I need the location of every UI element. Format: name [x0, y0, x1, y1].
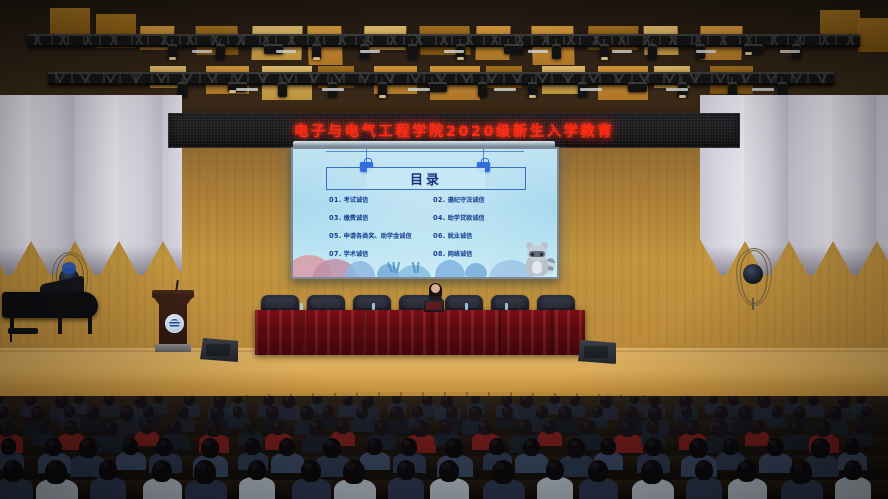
acoustic-panel [832, 95, 878, 275]
audience-member-head [25, 396, 36, 406]
audience-member-head [248, 460, 266, 480]
toc-item-label: 助学贷款诚信 [448, 213, 485, 222]
toc-item-label: 考试诚信 [344, 195, 369, 204]
ceiling-panel [858, 18, 888, 52]
light-hanger-bar [192, 50, 212, 53]
slide-title: 目录 [410, 169, 442, 188]
audience-member-head [492, 460, 514, 484]
audience-member-head [154, 396, 163, 404]
audience-member-head [45, 460, 67, 484]
light-hanger-bar [752, 88, 774, 91]
audience-member-head [343, 396, 354, 406]
water-bottle [505, 303, 508, 310]
audience-member-head [750, 420, 762, 434]
audience-member-head [31, 406, 45, 421]
audience-member-head [469, 406, 483, 421]
audience-member-head [422, 396, 433, 406]
light-hanger-bar [276, 50, 296, 53]
audience-member-head [626, 406, 638, 419]
toc-item: 07.学术诚信 [329, 249, 433, 258]
audience-member-head [794, 406, 806, 419]
audience-member-head [168, 420, 182, 435]
audience-member-head [64, 406, 75, 418]
audience-member-head [695, 460, 713, 480]
audience-member-head [523, 438, 540, 456]
light-hanger-bar [696, 50, 716, 53]
audience-member-head [648, 406, 662, 421]
audience-member-head [854, 420, 866, 434]
audience-member-head [737, 460, 757, 482]
audience-member-head [582, 420, 596, 435]
stage-light-icon [744, 44, 763, 54]
audience-member-head [279, 438, 296, 456]
audience-member-head [367, 438, 382, 455]
audience-member-head [516, 420, 532, 437]
audience-member [271, 453, 304, 473]
audience-member-head [811, 438, 829, 458]
projection-screen: 目录 01.考试诚信02.遵纪守法诚信03.缴费诚信04.助学贷款诚信05.申请… [291, 147, 559, 279]
audience-member-head [123, 438, 138, 455]
toc-item-label: 网络诚信 [448, 249, 473, 258]
audience [0, 396, 888, 499]
audience-member-head [789, 396, 798, 404]
audience-member-head [728, 396, 739, 406]
audience-member [351, 417, 375, 432]
audience-member-head [790, 460, 812, 484]
audience-member-head [592, 406, 603, 418]
audience-member-head [440, 420, 452, 434]
audience-member-head [641, 460, 663, 484]
acoustic-panel [30, 95, 76, 275]
audience-member-head [738, 406, 752, 421]
toc-row: 03.缴费诚信04.助学贷款诚信 [329, 213, 529, 222]
audience-member-head [816, 420, 832, 437]
toc-item-number: 07. [329, 250, 342, 258]
stage-light-icon [552, 44, 561, 59]
audience-member [782, 433, 809, 450]
toc-row: 01.考试诚信02.遵纪守法诚信 [329, 195, 529, 204]
toc-item-number: 03. [329, 214, 342, 222]
audience-member-head [120, 406, 134, 421]
audience-member-head [401, 438, 418, 456]
audience-member-head [194, 460, 216, 484]
toc-item-number: 08. [433, 250, 446, 258]
audience-member-head [689, 438, 707, 458]
audience-member-head [600, 396, 612, 408]
audience-member-head [645, 438, 662, 456]
audience-member-head [550, 396, 559, 404]
toc-item-label: 就业诚信 [448, 231, 473, 240]
audience-member-head [301, 460, 321, 482]
toc-item: 02.遵纪守法诚信 [433, 195, 529, 204]
toc-item: 08.网络诚信 [433, 249, 529, 258]
stage-light-icon [528, 82, 537, 97]
piano-bench [8, 328, 38, 334]
audience-member-head [712, 420, 728, 437]
water-bottle [372, 303, 375, 310]
stage-light-icon [600, 44, 609, 59]
audience-member-head [337, 420, 349, 434]
stage-light-icon [408, 44, 417, 59]
audience-member-head [263, 396, 274, 406]
audience-member-head [478, 420, 492, 435]
audience-member-head [323, 406, 334, 418]
light-hanger-bar [612, 50, 632, 53]
audience-member-head [413, 420, 429, 437]
audience-member-head [300, 406, 314, 421]
audience-member-head [143, 406, 154, 418]
audience-member-head [502, 406, 513, 418]
audience-member-head [446, 406, 458, 419]
audience-member-head [808, 396, 819, 406]
water-bottle [300, 303, 303, 310]
toc-item-label: 学术诚信 [344, 249, 369, 258]
audience-member-head [87, 406, 99, 419]
audience-member-head [789, 420, 803, 435]
audience-member-head [520, 396, 532, 408]
toc-item: 01.考试诚信 [329, 195, 433, 204]
light-hanger-bar [236, 88, 258, 91]
audience-member-head [588, 460, 608, 482]
slide-toc: 01.考试诚信02.遵纪守法诚信03.缴费诚信04.助学贷款诚信05.申请各类奖… [329, 195, 529, 267]
lectern [152, 290, 194, 352]
led-banner-text: 电子与电气工程学院2020级新生入学教育 [294, 120, 614, 141]
audience-member-head [233, 406, 244, 418]
toc-item-label: 申请各类奖、助学金诚信 [344, 231, 412, 240]
light-hanger-bar [494, 88, 516, 91]
audience-member-head [266, 406, 278, 419]
audience-member-head [570, 396, 581, 406]
stage-light-icon [312, 44, 321, 59]
audience-member-head [715, 406, 727, 419]
audience-member-head [861, 406, 872, 418]
audience-member-head [489, 438, 504, 455]
presentation-slide: 目录 01.考试诚信02.遵纪守法诚信03.缴费诚信04.助学贷款诚信05.申请… [293, 149, 557, 277]
acoustic-panel [788, 95, 834, 275]
stage-light-icon [378, 82, 387, 97]
audience-member-head [620, 420, 636, 437]
stage-light-icon [278, 82, 287, 97]
audience-member [759, 453, 792, 473]
audience-member-head [312, 396, 321, 404]
ceiling [0, 0, 888, 104]
audience-member-head [630, 396, 639, 404]
audience-member-head [390, 406, 404, 421]
light-hanger-bar [444, 50, 464, 53]
grand-piano [2, 292, 98, 344]
audience-member-head [156, 438, 173, 456]
stage-light-icon [428, 82, 447, 92]
water-bottle [465, 303, 468, 310]
audience-member-head [723, 438, 738, 455]
raccoon-mascot-icon [521, 242, 553, 276]
toc-item-number: 01. [329, 196, 342, 204]
acoustic-panel [876, 95, 888, 275]
audience-member-head [682, 406, 693, 418]
audience-member [515, 453, 548, 473]
audience-member-head [685, 420, 699, 435]
toc-row: 07.学术诚信08.网络诚信 [329, 249, 529, 258]
audience-member-head [244, 420, 256, 434]
acoustic-panel [74, 95, 120, 275]
audience-member-head [767, 438, 784, 456]
acoustic-panel [118, 95, 164, 275]
audience-member-head [558, 406, 572, 421]
stage-light-icon [648, 44, 657, 59]
left-acoustic-wall [0, 95, 182, 275]
audience-member-head [152, 460, 172, 482]
toc-item-number: 05. [329, 232, 342, 240]
audience-member-head [1, 438, 16, 455]
light-hanger-bar [780, 50, 800, 53]
audience-member-head [543, 420, 555, 434]
audience-member-head [271, 420, 285, 435]
toc-item: 03.缴费诚信 [329, 213, 433, 222]
audience-member-head [323, 438, 341, 458]
acoustic-panel [0, 95, 32, 275]
stage-light-icon [628, 82, 647, 92]
audience-member-head [45, 438, 62, 456]
audience-member-head [845, 438, 860, 455]
light-hanger-bar [360, 50, 380, 53]
stage-floor-monitor [578, 340, 616, 364]
auditorium-photo: 电子与电气工程学院2020级新生入学教育 目录 01.考试诚信02.遵纪守法诚信… [0, 0, 888, 499]
audience-member-head [397, 460, 415, 480]
lighting-truss-upper [28, 34, 860, 47]
light-hanger-bar [528, 50, 548, 53]
audience-member-head [828, 406, 842, 421]
audience-member-head [546, 460, 564, 480]
audience-member-head [600, 438, 615, 455]
stage-floor-monitor [200, 338, 238, 362]
slide-title-box: 目录 [326, 167, 526, 190]
light-hanger-bar [408, 88, 430, 91]
toc-item: 06.就业诚信 [433, 231, 529, 240]
audience-member-head [282, 396, 294, 408]
audience-member-head [567, 438, 585, 458]
toc-item-number: 02. [433, 196, 446, 204]
audience-member-head [141, 420, 153, 434]
university-crest-emblem [165, 314, 184, 333]
audience-member-head [309, 420, 325, 437]
audience-member-head [758, 396, 770, 408]
audience-member-head [356, 406, 368, 419]
toc-item-number: 06. [433, 232, 446, 240]
light-hanger-bar [580, 88, 602, 91]
audience-member-head [647, 420, 659, 434]
slide-header-rule [326, 151, 524, 152]
toc-item: 05.申请各类奖、助学金诚信 [329, 231, 433, 240]
audience-member-head [0, 420, 15, 437]
audience-member-head [37, 420, 49, 434]
right-wall-ornament [736, 248, 770, 304]
toc-item: 04.助学贷款诚信 [433, 213, 529, 222]
head-table [255, 310, 585, 355]
audience-member-head [536, 406, 548, 419]
stage-light-icon [168, 44, 177, 59]
audience-member [81, 417, 105, 432]
toc-item-label: 遵纪守法诚信 [448, 195, 485, 204]
audience-member-head [104, 396, 115, 406]
audience-member-head [74, 396, 83, 404]
audience-member-head [3, 460, 23, 482]
audience-member-head [838, 396, 850, 408]
stage-light-icon [478, 82, 487, 97]
audience-member-head [844, 460, 862, 480]
audience-member-head [772, 406, 783, 418]
audience-member-head [102, 420, 118, 437]
toc-item-label: 缴费诚信 [344, 213, 369, 222]
audience-member-head [445, 438, 463, 458]
audience-member-head [99, 460, 117, 480]
toc-item-number: 04. [433, 214, 446, 222]
audience-member-head [375, 420, 389, 435]
laptop [424, 300, 444, 312]
toc-row: 05.申请各类奖、助学金诚信06.就业诚信 [329, 231, 529, 240]
stage-light-icon [216, 44, 225, 59]
audience-member-head [392, 396, 401, 404]
audience-member-head [439, 460, 459, 482]
audience-member-head [184, 396, 195, 406]
audience-member-head [79, 438, 97, 458]
light-hanger-bar [666, 88, 688, 91]
light-hanger-bar [322, 88, 344, 91]
audience-member-head [177, 406, 189, 419]
audience-member-head [210, 406, 224, 421]
audience-member-head [206, 420, 222, 437]
audience-member-head [649, 396, 660, 406]
audience-member-head [412, 406, 423, 418]
audience-member-head [501, 396, 512, 406]
audience-member-head [343, 460, 365, 484]
audience-member-head [201, 438, 219, 458]
stage-light-icon [504, 44, 523, 54]
audience-member-head [245, 438, 260, 455]
